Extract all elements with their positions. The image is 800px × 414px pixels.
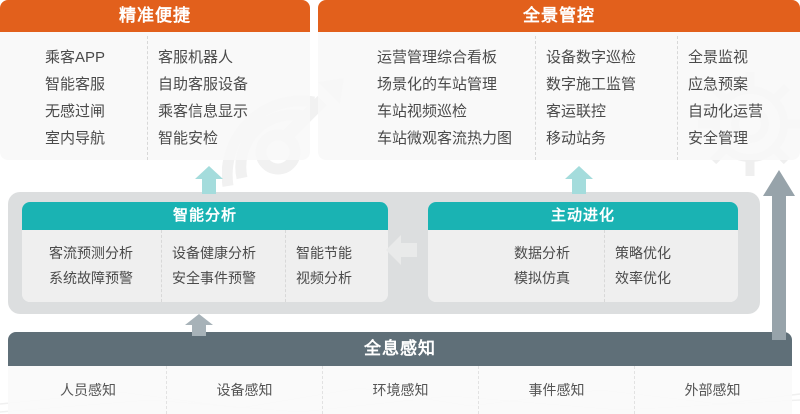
list-item[interactable]: 车站视频巡检 (377, 98, 525, 125)
panel-perception-column-2: 设备感知 (166, 366, 322, 414)
panel-active-evolution-body: 数据分析 模拟仿真 策略优化 效率优化 (428, 230, 738, 302)
list-item[interactable]: 车站微观客流热力图 (377, 125, 525, 152)
list-item[interactable]: 事件感知 (529, 380, 585, 400)
panel-accurate-title: 精准便捷 (0, 0, 310, 32)
list-item[interactable]: 智能节能 (296, 241, 367, 266)
list-item[interactable]: 系统故障预警 (49, 266, 151, 291)
list-item[interactable]: 安全事件预警 (172, 266, 275, 291)
panel-holographic-perception[interactable]: 全息感知 人员感知 设备感知 环境感知 事件感知 外部感知 (8, 332, 792, 414)
panel-panorama[interactable]: 全景管控 运营管理综合看板 场景化的车站管理 车站视频巡检 车站微观客流热力图 … (318, 0, 800, 160)
panel-panorama-title: 全景管控 (318, 0, 800, 32)
list-item[interactable]: 策略优化 (615, 241, 698, 266)
list-item[interactable]: 自动化运营 (688, 98, 777, 125)
panel-holographic-perception-body: 人员感知 设备感知 环境感知 事件感知 外部感知 (8, 366, 792, 414)
arrow-up-icon (564, 166, 594, 199)
panel-panorama-column-2: 设备数字巡检 数字施工监管 客运联控 移动站务 (535, 36, 677, 160)
list-item[interactable]: 客运联控 (546, 98, 667, 125)
list-item[interactable]: 安全管理 (688, 125, 777, 152)
list-item[interactable]: 设备数字巡检 (546, 44, 667, 71)
panel-accurate-column-2: 客服机器人 自助客服设备 乘客信息显示 智能安检 (147, 36, 297, 160)
panel-perception-column-1: 人员感知 (10, 366, 166, 414)
arrow-up-icon (762, 170, 796, 345)
arrow-left-icon (386, 232, 418, 273)
panel-intelligent-analysis-body: 客流预测分析 系统故障预警 设备健康分析 安全事件预警 智能节能 视频分析 (22, 230, 388, 302)
list-item[interactable]: 乘客APP (45, 44, 137, 71)
arrow-up-icon (184, 314, 214, 341)
list-item[interactable]: 数据分析 (514, 241, 594, 266)
panel-panorama-column-3: 全景监视 应急预案 自动化运营 安全管理 (677, 36, 787, 160)
list-item[interactable]: 设备健康分析 (172, 241, 275, 266)
list-item[interactable]: 运营管理综合看板 (377, 44, 525, 71)
panel-holographic-perception-title: 全息感知 (8, 332, 792, 366)
list-item[interactable]: 室内导航 (45, 125, 137, 152)
list-item[interactable]: 效率优化 (615, 266, 698, 291)
list-item[interactable]: 客服机器人 (158, 44, 287, 71)
panel-accurate-column-1: 乘客APP 智能客服 无感过闸 室内导航 (35, 36, 147, 160)
list-item[interactable]: 数字施工监管 (546, 71, 667, 98)
panel-evolution-column-1: 数据分析 模拟仿真 (504, 230, 604, 302)
list-item[interactable]: 应急预案 (688, 71, 777, 98)
panel-perception-column-4: 事件感知 (478, 366, 634, 414)
panel-accurate-body: 乘客APP 智能客服 无感过闸 室内导航 客服机器人 自助客服设备 乘客信息显示… (0, 32, 310, 160)
list-item[interactable]: 全景监视 (688, 44, 777, 71)
panel-intelligent-column-1: 客流预测分析 系统故障预警 (39, 230, 161, 302)
panel-intelligent-analysis-title: 智能分析 (22, 202, 388, 230)
panel-perception-column-5: 外部感知 (634, 366, 790, 414)
panel-intelligent-column-3: 智能节能 视频分析 (285, 230, 377, 302)
panel-intelligent-column-2: 设备健康分析 安全事件预警 (161, 230, 285, 302)
list-item[interactable]: 外部感知 (685, 380, 741, 400)
panel-active-evolution-title: 主动进化 (428, 202, 738, 230)
list-item[interactable]: 无感过闸 (45, 98, 137, 125)
list-item[interactable]: 场景化的车站管理 (377, 71, 525, 98)
list-item[interactable]: 人员感知 (60, 380, 116, 400)
list-item[interactable]: 客流预测分析 (49, 241, 151, 266)
list-item[interactable]: 智能客服 (45, 71, 137, 98)
list-item[interactable]: 乘客信息显示 (158, 98, 287, 125)
panel-accurate[interactable]: 精准便捷 乘客APP 智能客服 无感过闸 室内导航 客服机器人 自助客服设备 乘… (0, 0, 310, 160)
panel-perception-column-3: 环境感知 (322, 366, 478, 414)
list-item[interactable]: 自助客服设备 (158, 71, 287, 98)
arrow-up-icon (194, 166, 224, 199)
list-item[interactable]: 设备感知 (217, 380, 273, 400)
panel-panorama-body: 运营管理综合看板 场景化的车站管理 车站视频巡检 车站微观客流热力图 设备数字巡… (318, 32, 800, 160)
panel-intelligent-analysis[interactable]: 智能分析 客流预测分析 系统故障预警 设备健康分析 安全事件预警 智能节能 视频… (22, 202, 388, 302)
list-item[interactable]: 视频分析 (296, 266, 367, 291)
list-item[interactable]: 模拟仿真 (514, 266, 594, 291)
panel-panorama-column-1: 运营管理综合看板 场景化的车站管理 车站视频巡检 车站微观客流热力图 (367, 36, 535, 160)
list-item[interactable]: 智能安检 (158, 125, 287, 152)
list-item[interactable]: 环境感知 (373, 380, 429, 400)
panel-evolution-column-2: 策略优化 效率优化 (604, 230, 708, 302)
list-item[interactable]: 移动站务 (546, 125, 667, 152)
panel-active-evolution[interactable]: 主动进化 数据分析 模拟仿真 策略优化 效率优化 (428, 202, 738, 302)
